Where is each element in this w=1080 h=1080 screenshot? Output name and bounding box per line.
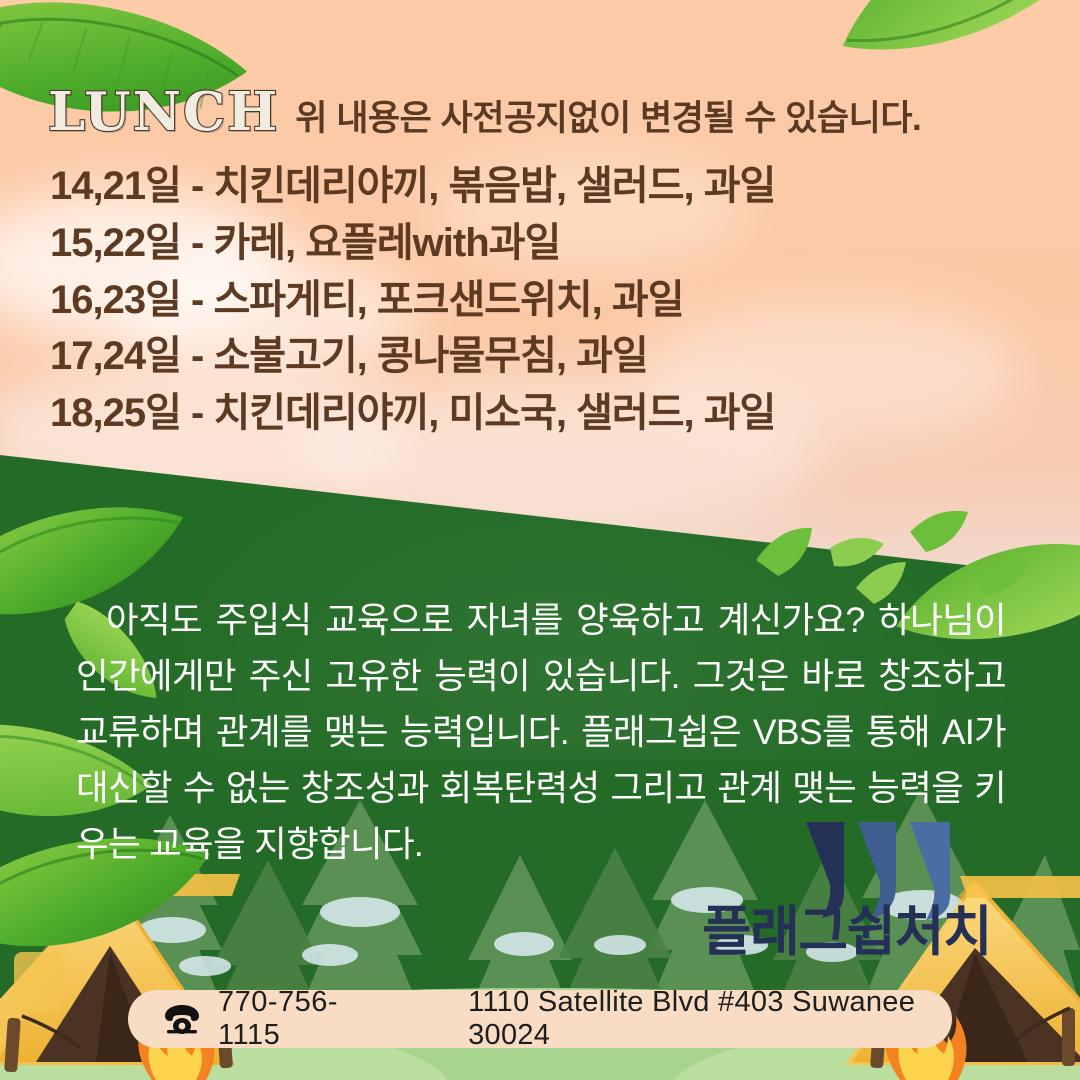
logo-wordmark: 플래그쉽처치 — [702, 905, 1062, 959]
lunch-menu-list: 14,21일 - 치킨데리야끼, 볶음밥, 샐러드, 과일 15,22일 - 카… — [50, 158, 1010, 442]
menu-row: 15,22일 - 카레, 요플레with과일 — [50, 215, 1010, 272]
poster-header: LUNCH 위 내용은 사전공지없이 변경될 수 있습니다. — [48, 86, 921, 139]
phone-number[interactable]: 770-756-1115 — [218, 986, 382, 1052]
menu-row: 18,25일 - 치킨데리야끼, 미소국, 샐러드, 과일 — [50, 385, 1010, 442]
poster-canvas: LUNCH 위 내용은 사전공지없이 변경될 수 있습니다. 14,21일 - … — [0, 0, 1080, 1080]
street-address: 1110 Satellite Blvd #403 Suwanee 30024 — [468, 986, 952, 1052]
change-notice: 위 내용은 사전공지없이 변경될 수 있습니다. — [295, 101, 921, 136]
telephone-icon — [164, 1004, 200, 1034]
menu-row: 14,21일 - 치킨데리야끼, 볶음밥, 샐러드, 과일 — [50, 158, 1010, 215]
menu-row: 17,24일 - 소불고기, 콩나물무침, 과일 — [50, 328, 1010, 385]
page-title: LUNCH — [48, 86, 279, 139]
menu-row: 16,23일 - 스파게티, 포크샌드위치, 과일 — [50, 272, 1010, 329]
contact-footer-bar: 770-756-1115 1110 Satellite Blvd #403 Su… — [128, 990, 952, 1048]
